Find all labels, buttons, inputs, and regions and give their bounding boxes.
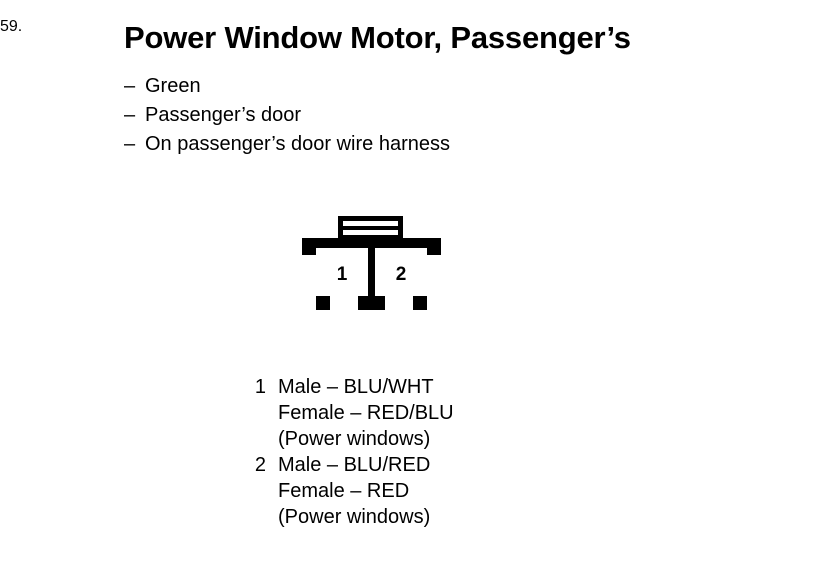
pin-male-wire-color: Male – BLU/RED (278, 452, 430, 478)
cavity-label-2: 2 (396, 264, 407, 285)
pin-legend-entry: 2 Male – BLU/RED Female – RED (Power win… (244, 452, 664, 530)
cavity-label-1: 1 (337, 264, 348, 285)
pin-female-wire-color: Female – RED/BLU (278, 400, 454, 426)
pin-legend: 1 Male – BLU/WHT Female – RED/BLU (Power… (244, 374, 664, 530)
pin-legend-line: 2 Male – BLU/RED (244, 452, 664, 478)
pin-legend-entry: 1 Male – BLU/WHT Female – RED/BLU (Power… (244, 374, 664, 452)
pin-legend-line: Female – RED/BLU (244, 400, 664, 426)
locking-tab-slot-lower (343, 230, 398, 235)
list-item-label: Passenger’s door (145, 101, 301, 130)
list-item: – Passenger’s door (124, 101, 684, 130)
pin-legend-line: Female – RED (244, 478, 664, 504)
page-title: Power Window Motor, Passenger’s (124, 18, 631, 58)
pin-circuit-description: (Power windows) (278, 426, 430, 452)
dash-bullet-icon: – (124, 101, 144, 130)
list-item: – On passenger’s door wire harness (124, 130, 684, 159)
pin-male-wire-color: Male – BLU/WHT (278, 374, 434, 400)
list-item: – Green (124, 72, 684, 101)
pin-number: 2 (244, 452, 266, 478)
pin-number: 1 (244, 374, 266, 400)
description-list: – Green – Passenger’s door – On passenge… (124, 72, 684, 159)
locking-tab-slot-upper (343, 221, 398, 226)
pin-circuit-description: (Power windows) (278, 504, 430, 530)
list-item-label: On passenger’s door wire harness (145, 130, 450, 159)
connector-diagram: 1 2 (296, 208, 448, 326)
pin-legend-line: (Power windows) (244, 504, 664, 530)
list-item-label: Green (145, 72, 201, 101)
dash-bullet-icon: – (124, 72, 144, 101)
connector-locking-tab (338, 216, 403, 241)
pin-legend-line: 1 Male – BLU/WHT (244, 374, 664, 400)
pin-legend-line: (Power windows) (244, 426, 664, 452)
page-header: 59. Power Window Motor, Passenger’s (0, 18, 832, 64)
dash-bullet-icon: – (124, 130, 144, 159)
connector-outline-icon: 1 2 (296, 208, 448, 326)
pin-female-wire-color: Female – RED (278, 478, 409, 504)
